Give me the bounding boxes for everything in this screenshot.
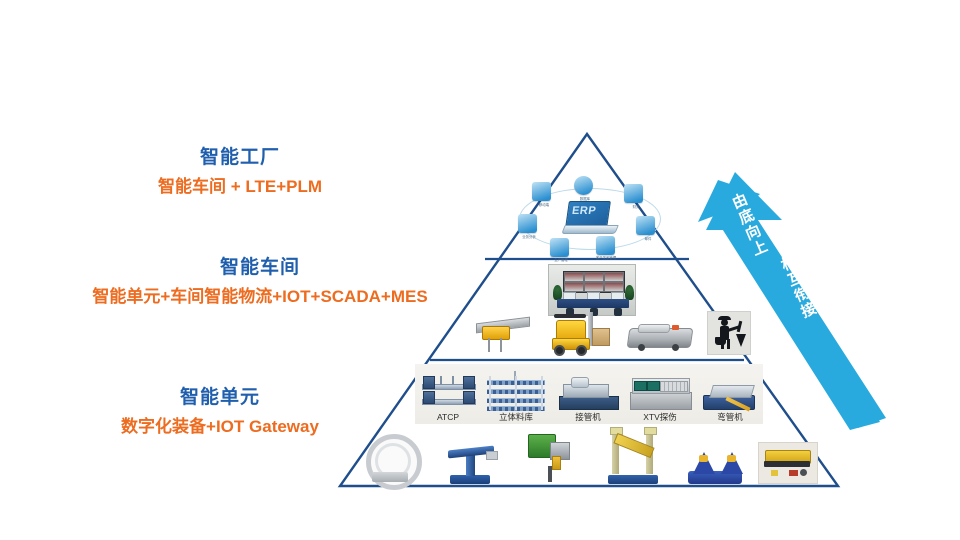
ring-fixture-icon bbox=[362, 432, 418, 484]
equipment-cell-rack-storage: 立体料库 bbox=[485, 373, 547, 422]
rack-post bbox=[489, 376, 491, 410]
atcp-block bbox=[463, 376, 475, 389]
cnc-screen bbox=[647, 381, 660, 391]
atcp-machine bbox=[420, 376, 476, 410]
hoist-body bbox=[482, 326, 510, 340]
gantry-frame-icon bbox=[606, 430, 662, 484]
conveyor-part bbox=[800, 469, 807, 476]
agv-wheel bbox=[638, 344, 645, 351]
erp-laptop-base bbox=[561, 225, 619, 234]
xtv-inspection-icon bbox=[629, 373, 691, 410]
welding-head-icon bbox=[528, 432, 578, 484]
equipment-cell-atcp: ATCP bbox=[417, 373, 479, 422]
person-icon bbox=[596, 236, 615, 255]
rack-post bbox=[541, 376, 543, 410]
plant-icon bbox=[625, 285, 634, 300]
erp-node-label-2: 邮件 bbox=[631, 236, 665, 241]
lathe-base bbox=[559, 396, 619, 410]
chair-icon bbox=[614, 308, 622, 316]
mobile-icon bbox=[532, 182, 551, 201]
post-column bbox=[466, 454, 475, 476]
rotator-cap bbox=[699, 455, 708, 462]
erp-center-label: ERP bbox=[571, 205, 597, 217]
atcp-block bbox=[423, 391, 435, 404]
pyramid-tier-4-digital-equipment bbox=[358, 428, 818, 484]
hoist-hook bbox=[500, 338, 502, 352]
atcp-pin bbox=[440, 376, 442, 385]
forklift-roof bbox=[554, 314, 586, 318]
diagram-canvas: 智能工厂 智能车间 + LTE+PLM 智能车间 智能单元+车间智能物流+IOT… bbox=[0, 0, 960, 540]
agv-light bbox=[672, 325, 679, 330]
conveyor-part bbox=[789, 470, 798, 476]
conveyor-photo bbox=[758, 442, 818, 484]
gears-icon bbox=[550, 238, 569, 257]
rack-post bbox=[515, 376, 517, 410]
forklift-wheel bbox=[554, 345, 565, 356]
control-room-photo bbox=[548, 264, 636, 316]
gantry-cap bbox=[644, 427, 657, 435]
post-base bbox=[450, 475, 490, 484]
erp-node-label-4: 生产管理 bbox=[544, 257, 578, 262]
agv-top bbox=[637, 324, 670, 333]
equipment-label-xtv-inspection: XTV探伤 bbox=[629, 413, 691, 422]
bottom-up-arrow: 由底向上 相互衔接 bbox=[690, 160, 910, 430]
rack-storage-machine bbox=[487, 376, 545, 410]
plant-icon bbox=[553, 285, 562, 300]
conveyor-part bbox=[771, 470, 778, 476]
atcp-block bbox=[463, 391, 475, 404]
database-icon bbox=[574, 176, 593, 195]
ring-foot bbox=[372, 472, 408, 482]
rack-storage-icon bbox=[485, 373, 547, 410]
equipment-label-pipe-joining: 接管机 bbox=[557, 413, 619, 422]
cnc-screen bbox=[634, 381, 647, 391]
hoist-hook bbox=[488, 338, 490, 352]
forklift-icon bbox=[548, 312, 608, 356]
calculator-icon bbox=[624, 184, 643, 203]
agv-wheel bbox=[672, 344, 679, 351]
post-tip bbox=[486, 451, 498, 460]
atcp-pin bbox=[452, 376, 454, 385]
pipe-joining-machine-icon bbox=[557, 373, 619, 410]
erp-cluster: 数据库 财务 邮件 客户关系管理 生产管理 业务分析 移动端 ERP bbox=[506, 174, 674, 260]
atcp-block bbox=[423, 376, 435, 389]
hoist-icon bbox=[476, 314, 528, 354]
lathe-head bbox=[571, 377, 589, 388]
equipment-cell-xtv-inspection: XTV探伤 bbox=[629, 373, 691, 422]
erp-node-label-3: 客户关系管理 bbox=[589, 255, 623, 260]
erp-laptop-icon: ERP bbox=[563, 201, 619, 235]
welder-nozzle bbox=[552, 456, 561, 470]
cnc-body bbox=[630, 392, 692, 410]
chart-icon bbox=[518, 214, 537, 233]
cargo-box-icon bbox=[592, 328, 610, 346]
console-desk bbox=[557, 299, 629, 308]
equipment-label-atcp: ATCP bbox=[417, 413, 479, 422]
video-wall-icon bbox=[563, 271, 625, 293]
welder-stem bbox=[548, 466, 552, 482]
equipment-cell-pipe-joining: 接管机 bbox=[557, 373, 619, 422]
atcp-icon bbox=[417, 373, 479, 410]
cnc-keyboard bbox=[660, 381, 688, 392]
rotator-icon bbox=[688, 440, 742, 484]
forklift-wheel bbox=[576, 345, 587, 356]
erp-node-label-6: 移动端 bbox=[527, 202, 561, 207]
pipe-joining-machine bbox=[559, 376, 617, 410]
erp-node-label-1: 财务 bbox=[619, 204, 653, 209]
t-post-icon bbox=[446, 436, 498, 484]
erp-node-label-5: 业务分析 bbox=[512, 234, 546, 239]
gantry-base bbox=[608, 475, 658, 484]
equipment-label-rack-storage: 立体料库 bbox=[485, 413, 547, 422]
conveyor-dark-bar bbox=[764, 461, 810, 467]
envelope-icon bbox=[636, 216, 655, 235]
xtv-inspection-machine bbox=[630, 376, 690, 410]
rotator-cap bbox=[727, 455, 736, 462]
agv-icon bbox=[628, 322, 690, 352]
pyramid-tier-1-smart-factory: 数据库 财务 邮件 客户关系管理 生产管理 业务分析 移动端 ERP bbox=[505, 172, 675, 260]
